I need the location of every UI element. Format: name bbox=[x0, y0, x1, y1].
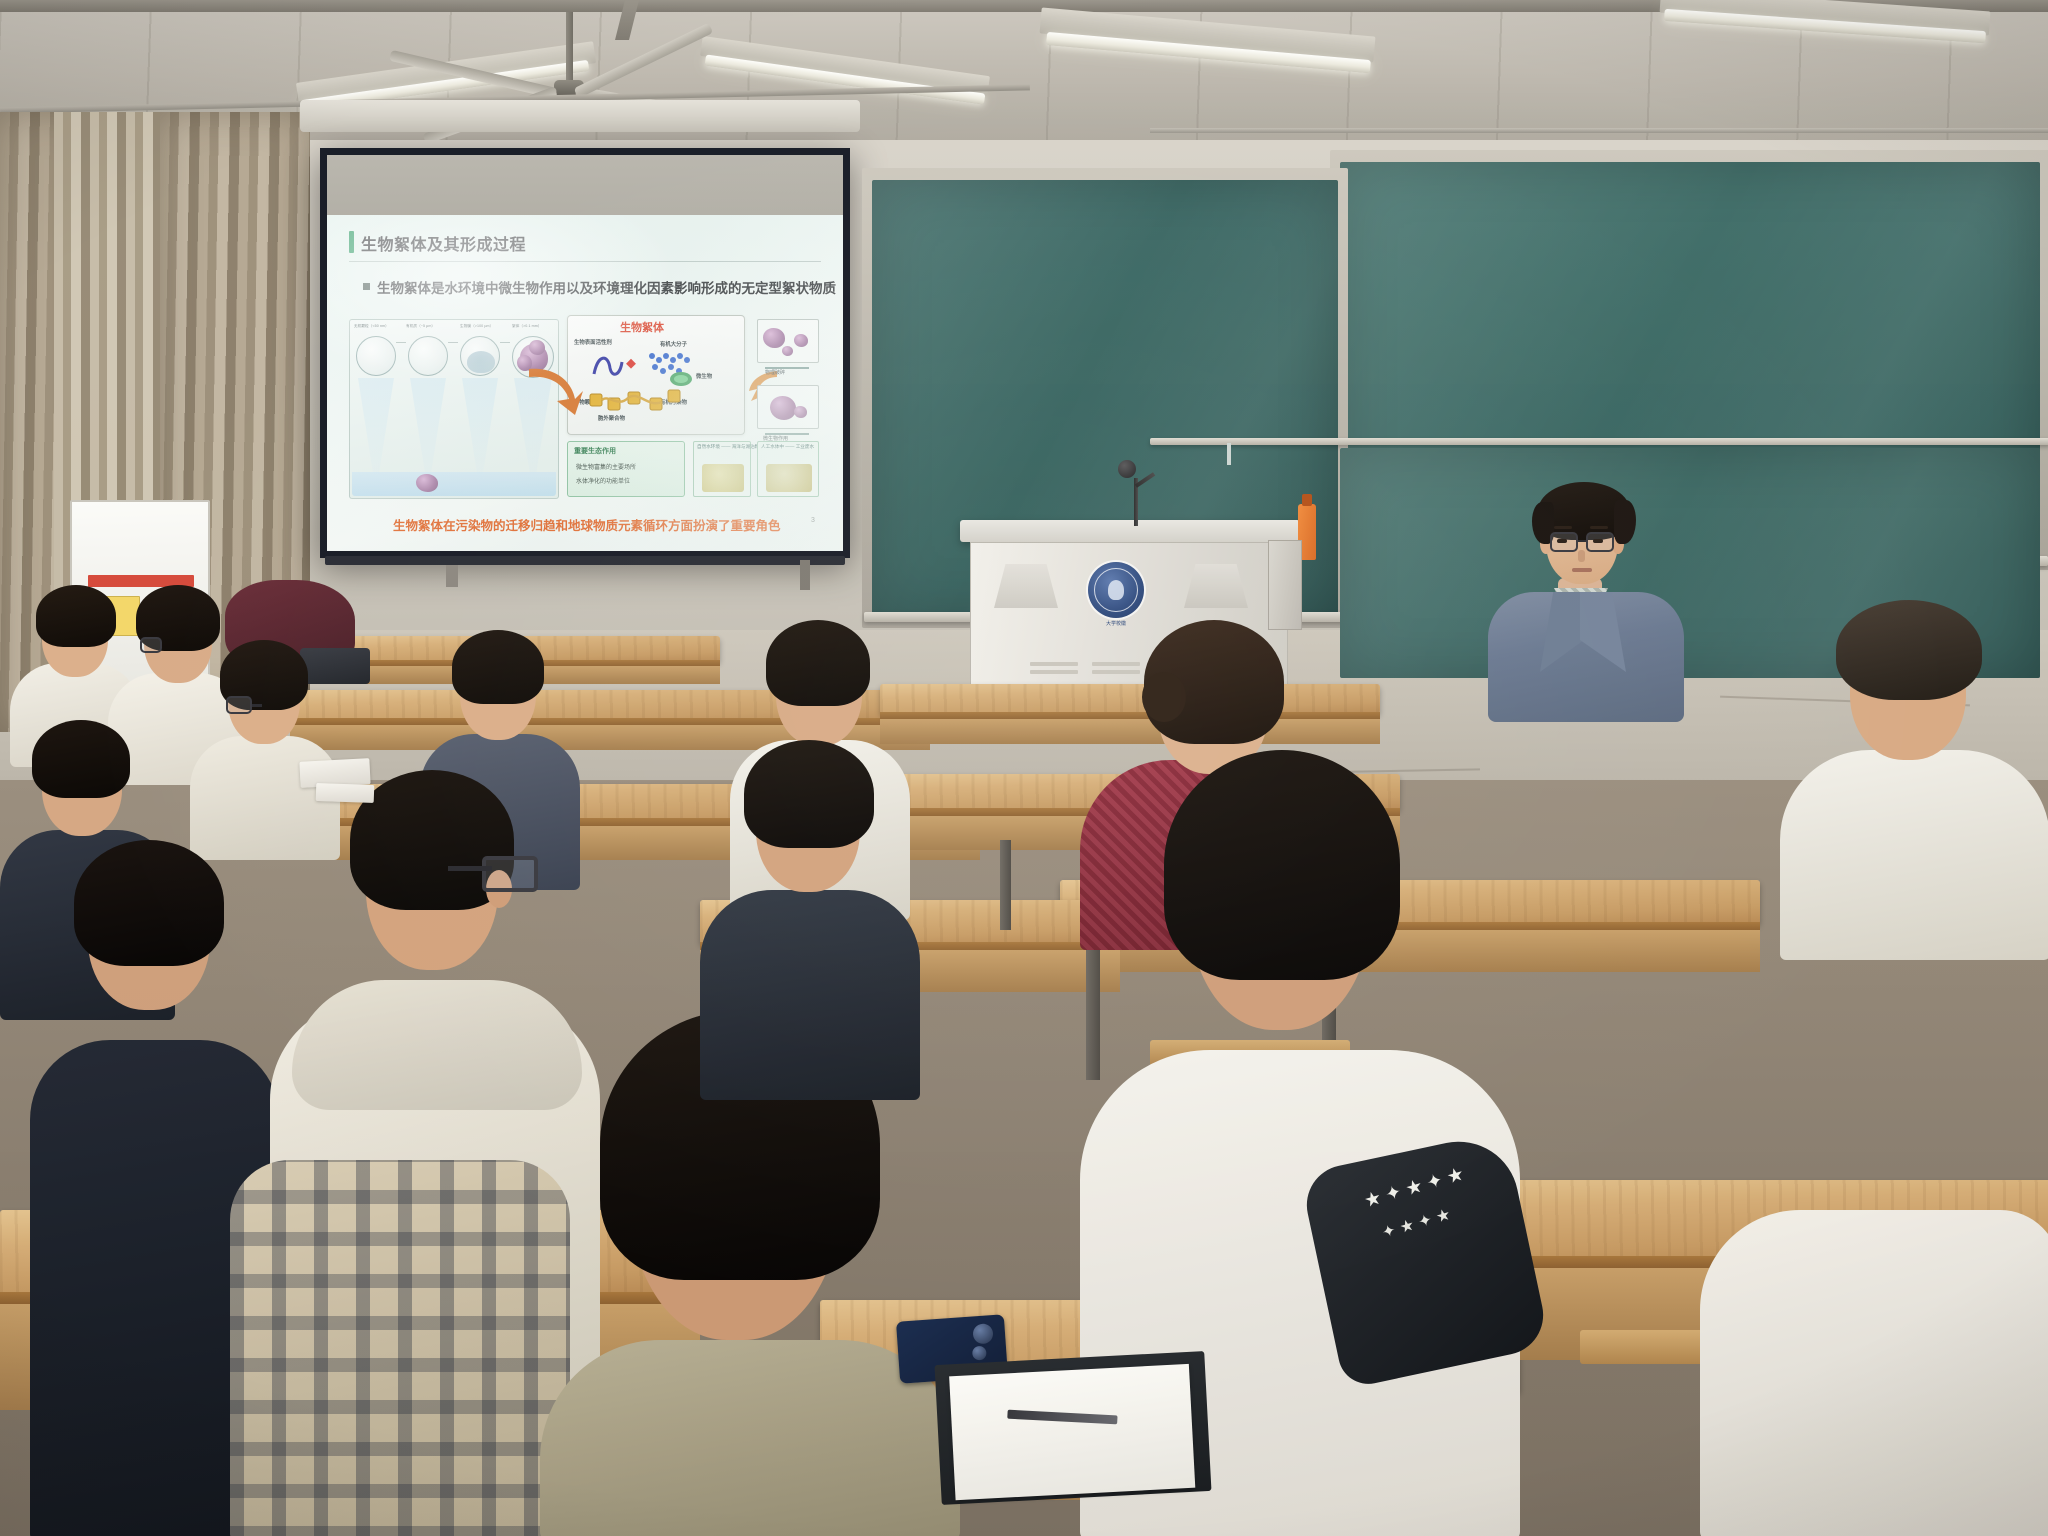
diagram-thumbnail-caption: 物理破碎 bbox=[765, 369, 785, 376]
clipboard[interactable] bbox=[935, 1351, 1212, 1505]
projection-screen[interactable]: 生物絮体及其形成过程 生物絮体是水环境中微生物作用以及环境理化因素影响形成的无定… bbox=[320, 148, 850, 558]
slide-title: 生物絮体及其形成过程 bbox=[361, 231, 526, 255]
student-row3-right bbox=[700, 740, 920, 1100]
mineral-eps-glyph bbox=[588, 378, 684, 414]
diagram-column-label: 絮体（>0.1 mm） bbox=[512, 324, 542, 329]
student-front-far-right bbox=[1700, 1150, 2048, 1536]
diagram-funnel bbox=[462, 378, 498, 474]
bottle-cap bbox=[1302, 494, 1312, 506]
diagram-eco-item: 水体净化的功能单位 bbox=[576, 476, 630, 485]
diagram-funnel bbox=[358, 378, 394, 474]
chalk-rail-mid bbox=[1150, 438, 2048, 445]
diagram-label-microbe: 微生物 bbox=[696, 372, 712, 380]
diagram-eco-box: 重要生态作用 微生物富集的主要场所 水体净化的功能单位 bbox=[567, 441, 685, 497]
podium-vent bbox=[1030, 662, 1078, 666]
chalk-piece bbox=[1227, 443, 1231, 465]
diagram-env-box: 自然水环境 —— 海洋与湖泊颗粒物 bbox=[693, 441, 751, 497]
conduit-pipe bbox=[1150, 128, 2048, 133]
diagram-water-layer bbox=[352, 472, 556, 496]
screen-bottom-bar bbox=[325, 556, 845, 565]
microphone[interactable] bbox=[1118, 460, 1158, 526]
diagram-env-box: 人工水体中 —— 工业废水 bbox=[757, 441, 819, 497]
slide-content: 生物絮体及其形成过程 生物絮体是水环境中微生物作用以及环境理化因素影响形成的无定… bbox=[327, 215, 843, 551]
diagram-label-surfactant: 生物表面活性剂 bbox=[574, 338, 612, 346]
slide-bullet-text: 生物絮体是水环境中微生物作用以及环境理化因素影响形成的无定型絮状物质 bbox=[377, 277, 836, 297]
student-far-right bbox=[1780, 600, 2048, 960]
podium-emblem bbox=[1088, 562, 1144, 618]
diagram-eco-item: 微生物富集的主要场所 bbox=[576, 462, 636, 471]
slide-title-rule bbox=[349, 261, 821, 262]
diagram-right-panel: 生物絮体 生物表面活性剂 有机大分子 微生物 有机污染物 矿物颗粒 胞外聚合物 bbox=[567, 315, 745, 435]
notebook[interactable] bbox=[316, 783, 375, 803]
slide-caption: 生物絮体在污染物的迁移归趋和地球物质元素循环方面扮演了重要角色 bbox=[393, 515, 781, 534]
screen-blank-strip bbox=[327, 155, 843, 215]
diagram-env-caption: 人工水体中 —— 工业废水 bbox=[761, 444, 814, 450]
student-plaid bbox=[230, 900, 570, 1536]
diagram-micrograph-circle bbox=[460, 336, 500, 376]
surfactant-glyph bbox=[590, 348, 646, 378]
diagram-thumbnail bbox=[757, 319, 819, 363]
diagram-label-macromolecule: 有机大分子 bbox=[660, 340, 687, 348]
slide-bullet-marker bbox=[363, 283, 370, 290]
diagram-column-label: 无机颗粒（<50 nm） bbox=[354, 324, 389, 329]
diagram-column-label: 生物膜（>100 µm） bbox=[460, 324, 493, 329]
diagram-eco-title: 重要生态作用 bbox=[574, 446, 616, 456]
screen-side-mount bbox=[800, 560, 810, 590]
diagram-column-label: 有机质（~5 µm） bbox=[406, 324, 435, 329]
screen-pull-cord bbox=[446, 565, 458, 587]
diagram-floc-particle bbox=[416, 474, 438, 492]
diagram-funnel bbox=[410, 378, 446, 474]
slide-page-number: 3 bbox=[811, 517, 815, 524]
podium-side-device bbox=[1268, 540, 1302, 630]
slide-title-accent-bar bbox=[349, 231, 354, 253]
diagram-orange-arrow bbox=[527, 363, 583, 419]
speaker bbox=[1480, 460, 1690, 720]
screen-housing bbox=[300, 100, 860, 132]
lecture-hall-photo: 生物絮体及其形成过程 生物絮体是水环境中微生物作用以及环境理化因素影响形成的无定… bbox=[0, 0, 2048, 1536]
diagram-right-panel-title: 生物絮体 bbox=[620, 319, 664, 335]
diagram-micrograph-circle bbox=[356, 336, 396, 376]
diagram-label-eps: 胞外聚合物 bbox=[598, 414, 625, 422]
student-glasses bbox=[482, 856, 538, 892]
diagram-micrograph-circle bbox=[408, 336, 448, 376]
diagram-thumbnail bbox=[757, 385, 819, 429]
